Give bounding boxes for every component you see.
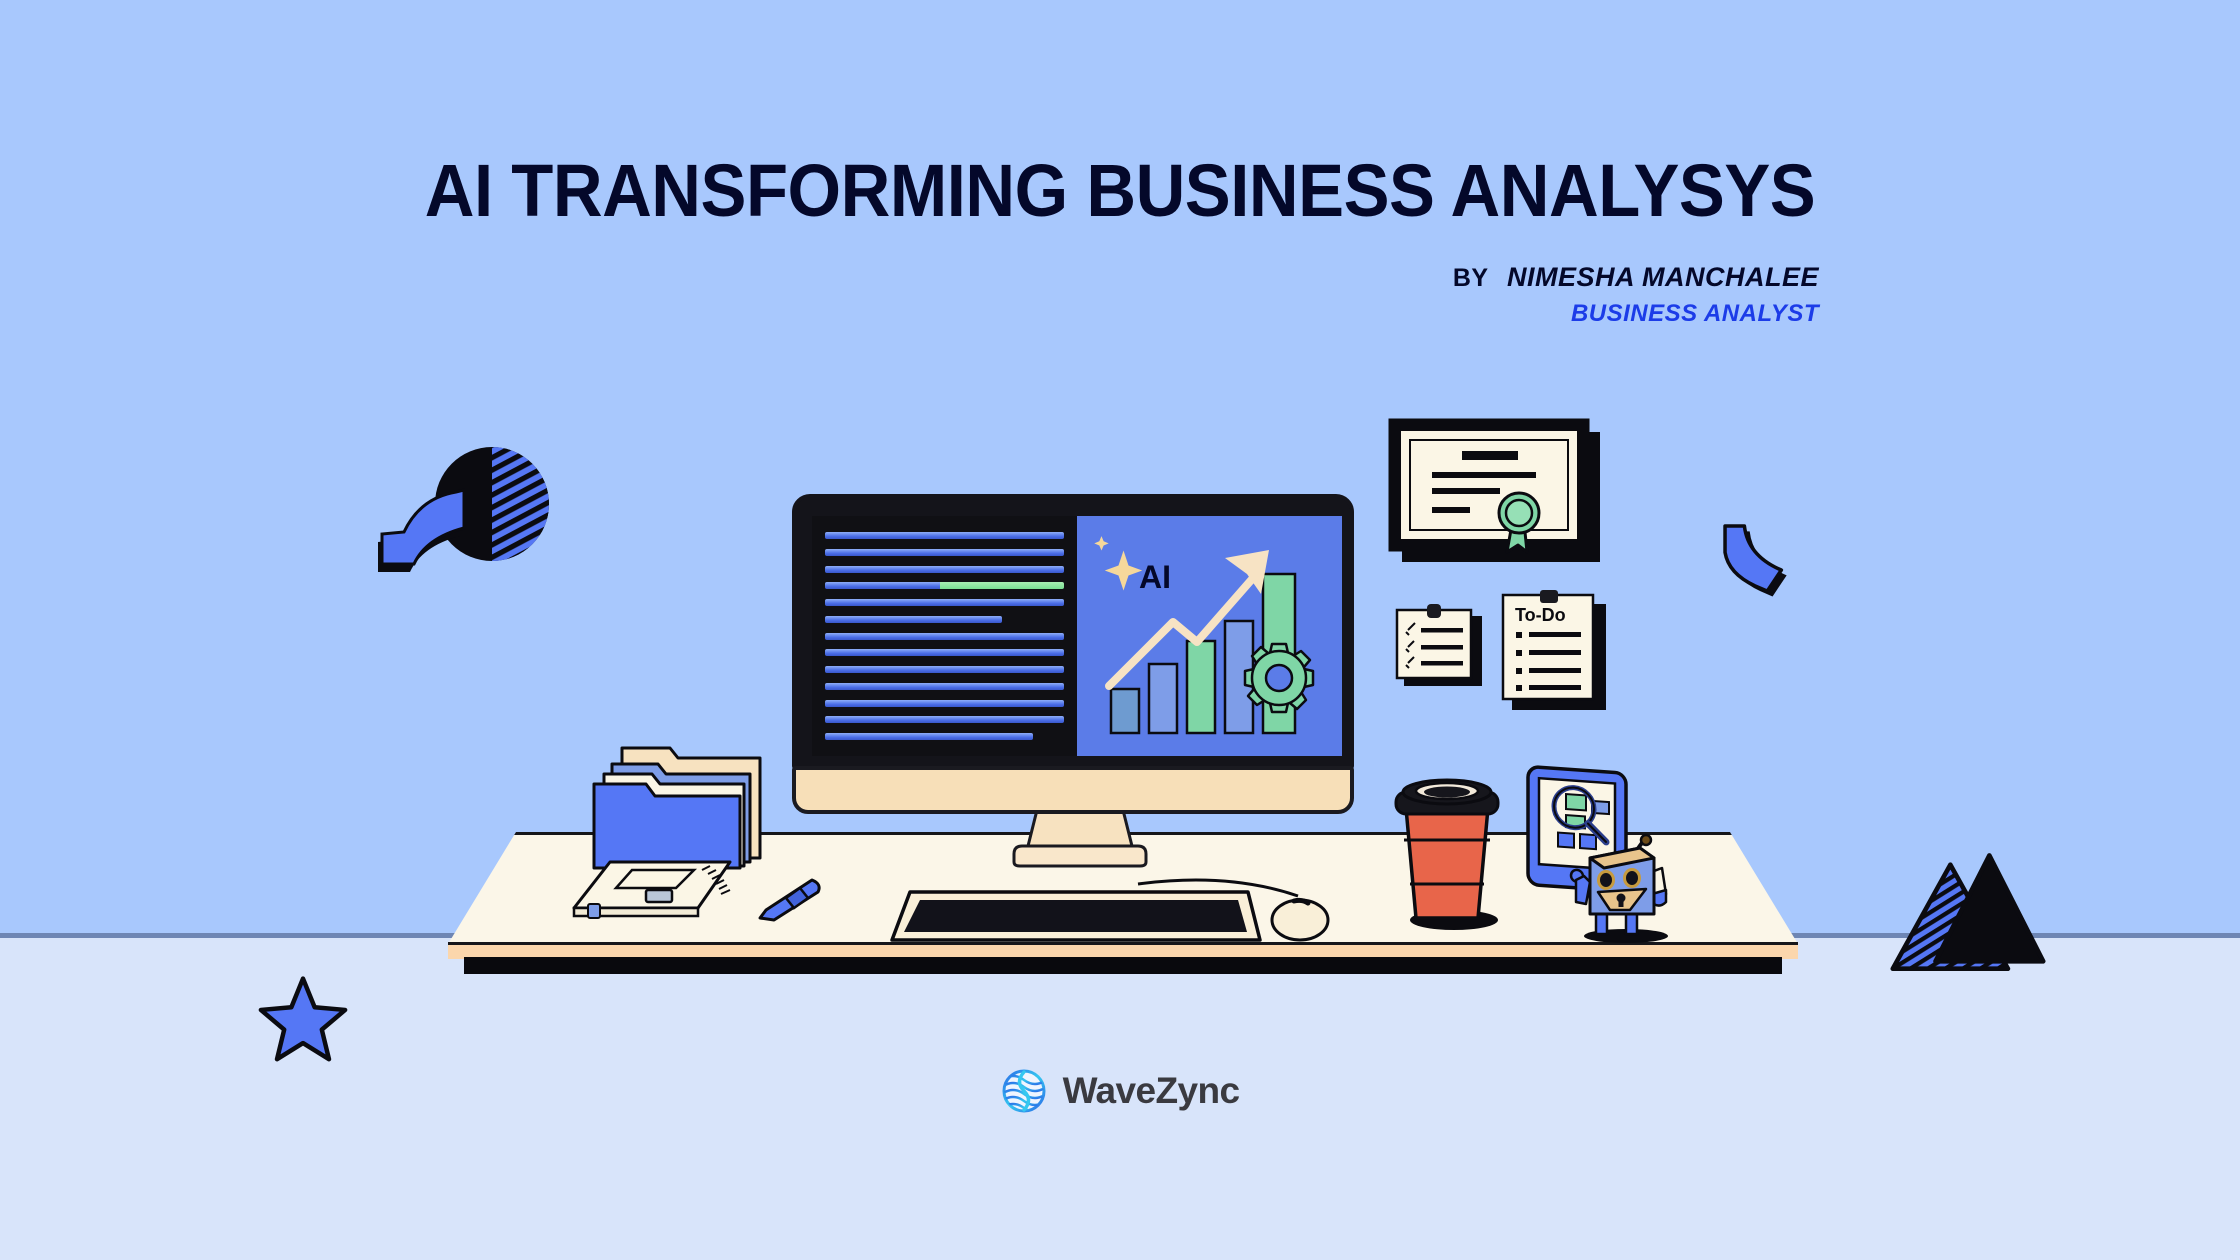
robot-eye [1625, 870, 1640, 887]
todo-list-note: To-Do [1502, 590, 1610, 714]
computer-mouse[interactable] [1268, 888, 1332, 944]
todo-item-line [1529, 668, 1581, 673]
monitor-bezel: AI [792, 494, 1354, 770]
monitor: AI [792, 494, 1354, 814]
byline: BY NIMESHA MANCHALEE BUSINESS ANALYST [1453, 262, 1819, 328]
code-lines-panel [812, 516, 1077, 756]
poster-canvas: AI TRANSFORMING BUSINESS ANALYSYS BY NIM… [0, 0, 2240, 1260]
brand-logo: WaveZync [0, 1068, 2240, 1114]
brand-name: WaveZync [1063, 1070, 1240, 1112]
certificate-text-line [1462, 451, 1518, 460]
triangle-shapes [1888, 848, 2048, 978]
ai-label: AI [1139, 559, 1171, 595]
coffee-cup [1392, 778, 1502, 930]
desk-shadow [464, 957, 1782, 974]
note-line [1421, 645, 1463, 650]
code-line-highlighted [825, 582, 1064, 589]
certificate-text-line [1432, 488, 1500, 494]
spiral-notebook [570, 856, 736, 922]
author-name: NIMESHA MANCHALEE [1507, 262, 1819, 292]
byline-prefix: BY [1453, 264, 1489, 292]
ai-chart-panel: AI [1077, 516, 1342, 756]
data-block [1566, 794, 1586, 810]
todo-item-line [1529, 632, 1581, 637]
blue-arc-shape-right [1718, 522, 1806, 604]
star-shape [258, 975, 348, 1061]
sticky-note-checklist [1396, 604, 1486, 690]
page-title: AI TRANSFORMING BUSINESS ANALYSYS [78, 148, 2161, 233]
certificate-text-line [1432, 472, 1536, 478]
author-role: BUSINESS ANALYST [1453, 300, 1819, 328]
todo-item-line [1529, 650, 1581, 655]
monitor-chin [792, 766, 1354, 814]
sparkle-star-icon [1094, 536, 1142, 590]
blue-pen [750, 876, 826, 924]
bar-1 [1111, 689, 1139, 733]
striped-circle-shape [352, 442, 562, 582]
keyboard[interactable] [888, 890, 1260, 946]
bar-2 [1149, 664, 1177, 733]
todo-item-line [1529, 685, 1581, 690]
framed-certificate [1388, 418, 1604, 564]
file-folders [592, 730, 782, 870]
note-line [1421, 661, 1463, 666]
bar-3 [1187, 641, 1215, 733]
ai-robot [1568, 838, 1674, 942]
robot-eye [1599, 872, 1614, 889]
robot-arm [1576, 876, 1590, 904]
todo-heading: To-Do [1515, 605, 1566, 625]
gear-icon [1245, 644, 1313, 712]
monitor-stand [1008, 806, 1152, 868]
certificate-text-line [1432, 507, 1470, 513]
note-line [1421, 628, 1463, 633]
wave-circle-logo [1001, 1068, 1047, 1114]
monitor-screen: AI [812, 516, 1342, 756]
